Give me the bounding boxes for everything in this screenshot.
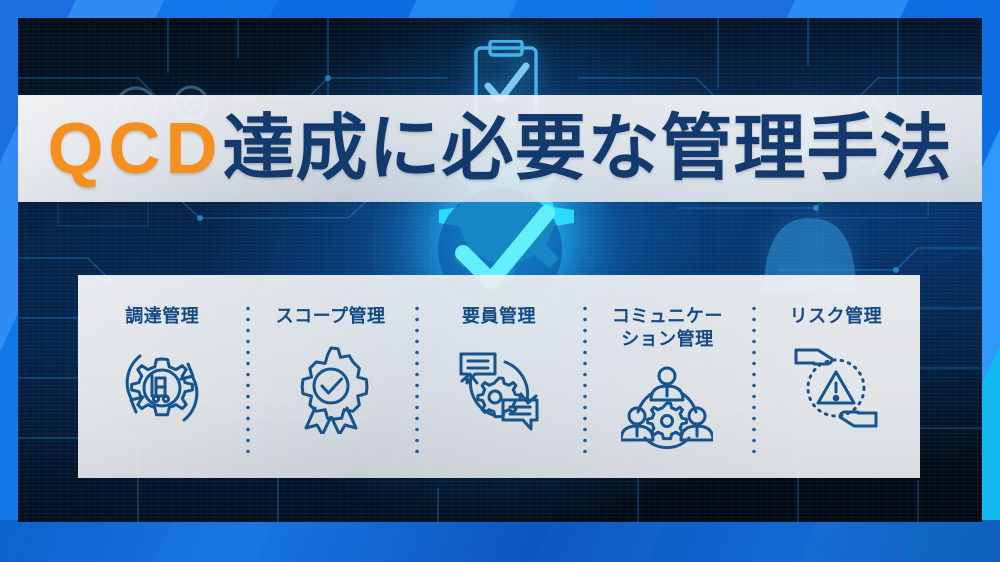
management-methods-panel: 調達管理: [78, 275, 920, 478]
card-risk[interactable]: リスク管理: [752, 275, 920, 478]
card-label: スコープ管理: [276, 305, 386, 328]
procurement-gear-icon: [116, 342, 208, 434]
frame-bottom-band: [0, 520, 1000, 562]
quality-badge-check-icon: [285, 342, 377, 434]
slide-root: QC: [0, 0, 1000, 562]
card-label: リスク管理: [790, 305, 883, 328]
card-label: コミュニケー ション管理: [612, 305, 723, 352]
title-rest: 達成に必要な管理手法: [222, 109, 952, 189]
title-accent: QCD: [47, 109, 222, 189]
risk-hands-warning-icon: [790, 342, 882, 434]
title-banner: QCD達成に必要な管理手法: [18, 95, 982, 202]
card-staffing[interactable]: 要員管理: [415, 275, 583, 478]
team-network-gear-icon: [621, 366, 713, 458]
card-scope[interactable]: スコープ管理: [246, 275, 414, 478]
card-communication[interactable]: コミュニケー ション管理: [583, 275, 751, 478]
card-label: 調達管理: [125, 305, 199, 328]
card-label: 要員管理: [462, 305, 536, 328]
chat-gear-cycle-icon: [453, 342, 545, 434]
card-procurement[interactable]: 調達管理: [78, 275, 246, 478]
page-title: QCD達成に必要な管理手法: [47, 113, 952, 185]
